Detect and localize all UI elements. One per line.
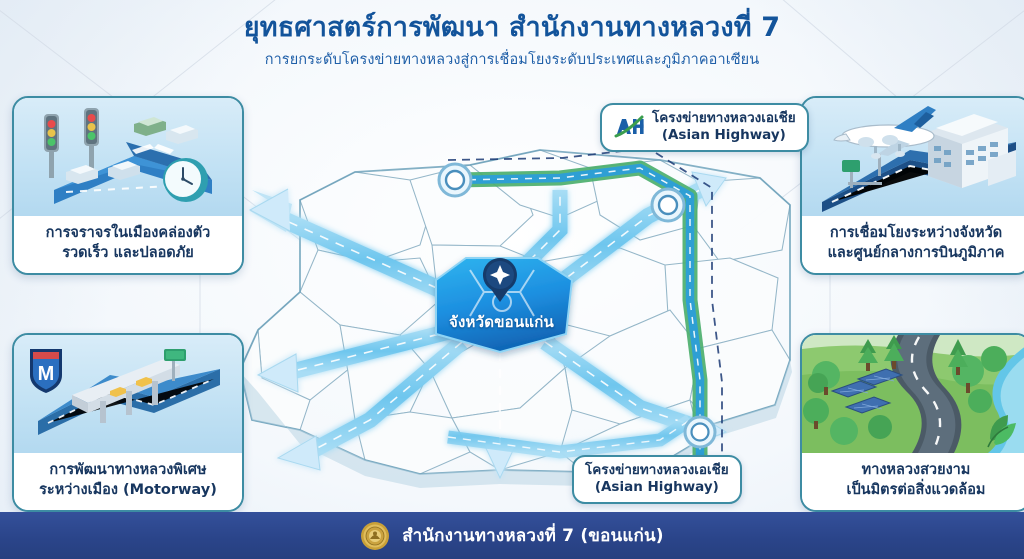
card-traffic-label: การจราจรในเมืองคล่องตัว รวดเร็ว และปลอดภ… [14,216,242,273]
card-environment[interactable]: ทางหลวงสวยงาม เป็นมิตรต่อสิ่งแวดล้อม [800,333,1024,512]
traffic-light-icon [44,114,59,178]
callout-bottom-text: โครงข่ายทางหลวงเอเชีย (Asian Highway) [585,462,729,496]
car-icon [166,125,198,144]
card-aviation[interactable]: การเชื่อมโยงระหว่างจังหวัด และศูนย์กลางก… [800,96,1024,275]
card-environment-label-line1: ทางหลวงสวยงาม [808,461,1024,481]
airport-terminal-icon [928,114,1016,188]
callout-bottom-line2: (Asian Highway) [585,479,729,496]
center-badge-wrap: จังหวัดขอนแก่น [424,272,579,350]
infographic-root: ยุทธศาสตร์การพัฒนา สำนักงานทางหลวงที่ 7 … [0,0,1024,559]
card-traffic-illustration [14,98,242,216]
callout-top-text: โครงข่ายทางหลวงเอเชีย (Asian Highway) [652,110,796,144]
card-aviation-illustration [802,98,1024,216]
footer-bar: สำนักงานทางหลวงที่ 7 (ขอนแก่น) [0,512,1024,559]
card-traffic-label-line1: การจราจรในเมืองคล่องตัว [20,224,236,244]
department-of-highways-emblem-icon [360,521,390,551]
callout-top-line2: (Asian Highway) [652,127,796,144]
ah-logo-icon [613,112,645,142]
airplane-icon [834,106,936,159]
card-motorway[interactable]: M การพัฒนาทางหลวงพิเศษ ระหว่างเมือง (Mot… [12,333,244,512]
tree-icon [830,417,858,445]
callout-bottom-line1: โครงข่ายทางหลวงเอเชีย [585,462,729,479]
card-environment-label: ทางหลวงสวยงาม เป็นมิตรต่อสิ่งแวดล้อม [802,453,1024,510]
callout-asian-highway-bottom[interactable]: โครงข่ายทางหลวงเอเชีย (Asian Highway) [572,455,742,504]
card-traffic[interactable]: การจราจรในเมืองคล่องตัว รวดเร็ว และปลอดภ… [12,96,244,275]
car-icon [134,117,166,136]
card-aviation-label-line2: และศูนย์กลางการบินภูมิภาค [808,244,1024,264]
svg-text:M: M [38,363,55,385]
callout-top-line1: โครงข่ายทางหลวงเอเชีย [652,110,796,127]
card-motorway-illustration: M [14,335,242,453]
card-motorway-label-line1: การพัฒนาทางหลวงพิเศษ [20,461,236,481]
motorway-shield-icon: M [30,349,62,393]
card-aviation-label: การเชื่อมโยงระหว่างจังหวัด และศูนย์กลางก… [802,216,1024,273]
callout-asian-highway-top[interactable]: โครงข่ายทางหลวงเอเชีย (Asian Highway) [600,103,809,152]
footer-office-name: สำนักงานทางหลวงที่ 7 (ขอนแก่น) [402,522,664,549]
card-traffic-label-line2: รวดเร็ว และปลอดภัย [20,244,236,264]
tree-icon [968,389,992,413]
card-environment-illustration [802,335,1024,453]
clock-icon [164,158,208,202]
card-environment-label-line2: เป็นมิตรต่อสิ่งแวดล้อม [808,481,1024,501]
tree-icon [981,346,1007,372]
traffic-light-icon [84,108,99,172]
card-motorway-label-line2: ระหว่างเมือง (Motorway) [20,481,236,501]
card-motorway-label: การพัฒนาทางหลวงพิเศษ ระหว่างเมือง (Motor… [14,453,242,510]
tree-icon [868,415,892,439]
card-aviation-label-line1: การเชื่อมโยงระหว่างจังหวัด [808,224,1024,244]
province-name-label: จังหวัดขอนแก่น [424,310,579,334]
